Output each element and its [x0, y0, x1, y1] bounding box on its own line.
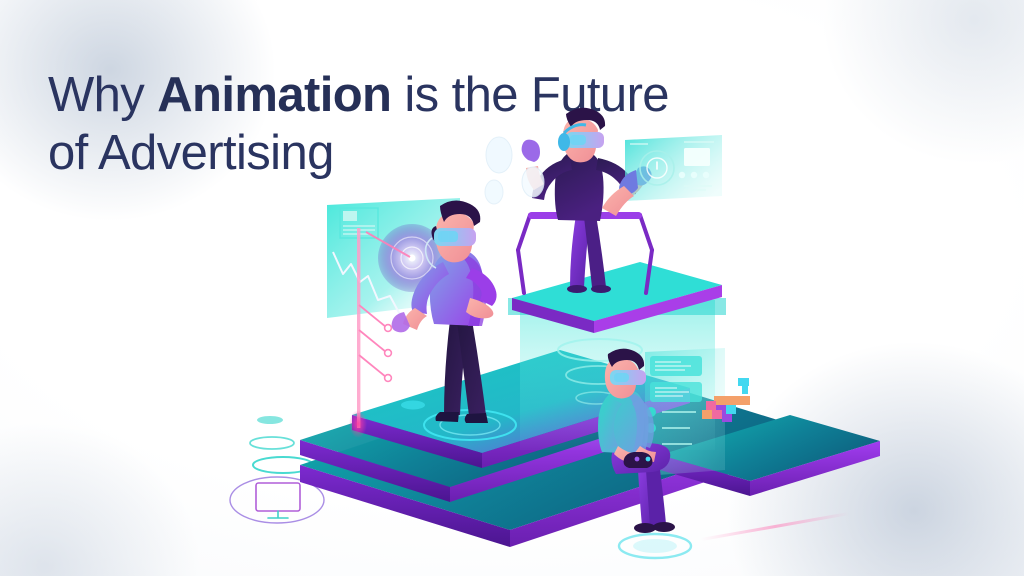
- vr-illustration: [0, 0, 1024, 576]
- hero-banner: Why Animation is the Future of Advertisi…: [0, 0, 1024, 576]
